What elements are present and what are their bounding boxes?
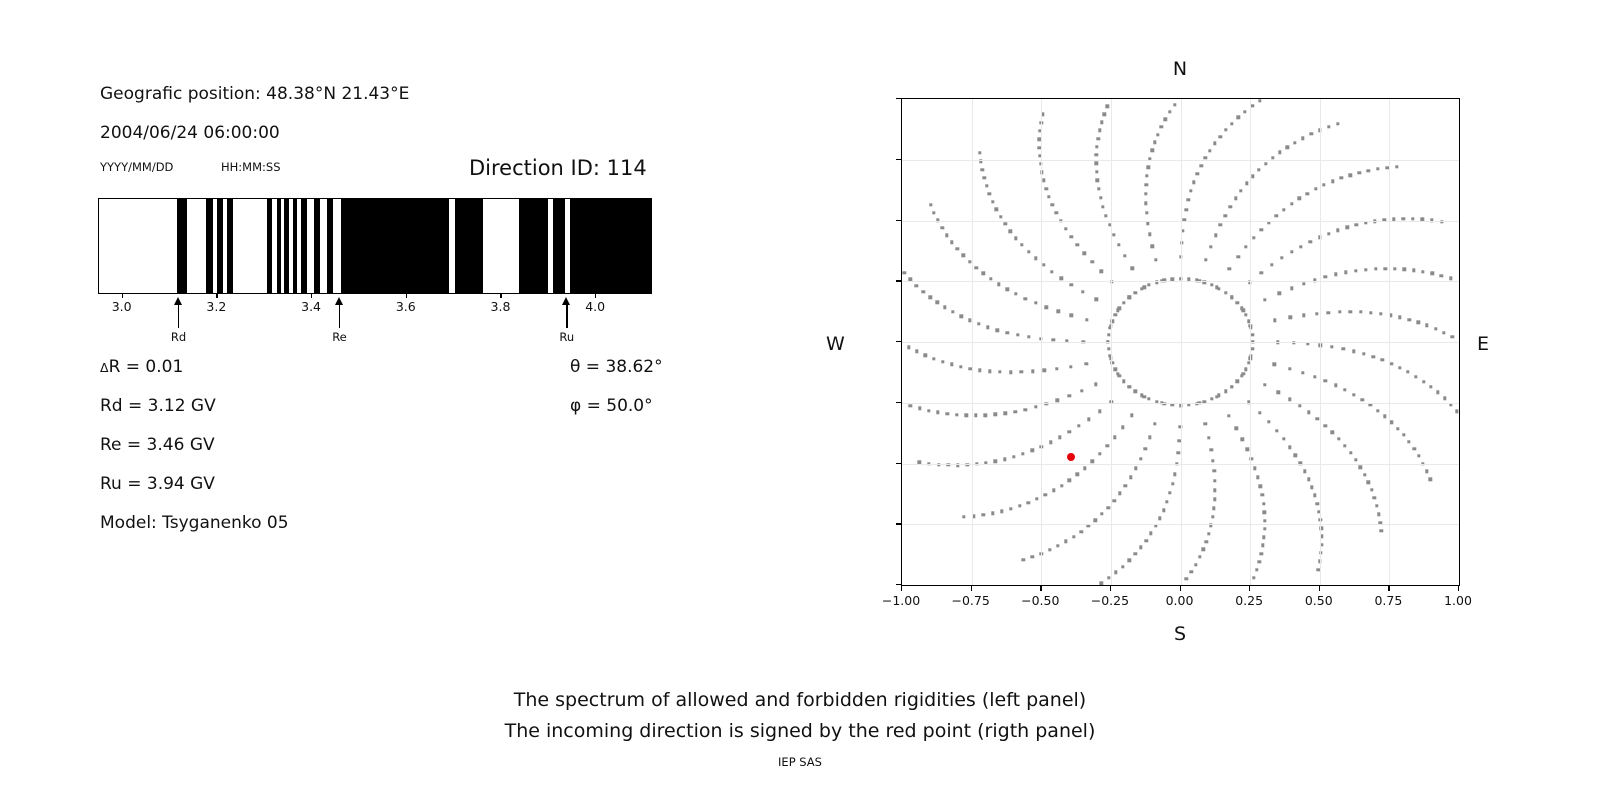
scatter-dot: [1044, 493, 1047, 496]
scatter-dot: [1327, 232, 1330, 235]
scatter-dot: [1362, 352, 1365, 355]
scatter-dot: [1145, 211, 1148, 214]
scatter-dot: [1117, 243, 1120, 246]
scatter-dot: [1425, 470, 1428, 473]
scatter-dot: [1431, 272, 1434, 275]
scatter-dot: [1106, 105, 1109, 108]
scatter-dot: [1369, 311, 1372, 314]
scatter-dot: [1337, 437, 1340, 440]
scatter-dot: [1436, 391, 1439, 394]
scatter-dot: [1224, 214, 1227, 217]
scatter-dot: [1451, 335, 1454, 338]
scatter-dot: [1027, 335, 1030, 338]
scatter-dot: [1094, 519, 1097, 522]
scatter-dot: [1154, 258, 1157, 261]
scatter-dot: [1056, 310, 1059, 313]
scatter-dot: [1189, 189, 1192, 192]
scatter-dot: [1315, 502, 1318, 505]
scatter-dot: [1245, 182, 1248, 185]
scatter-dot: [1251, 175, 1254, 178]
scatter-dot: [1374, 267, 1377, 270]
scatter-dot: [1020, 243, 1023, 246]
scatter-dot: [1130, 414, 1133, 417]
scatter-dot: [1230, 385, 1233, 388]
scatter-dot: [981, 513, 984, 516]
scatter-dot: [1128, 296, 1131, 299]
scatter-dot: [1343, 444, 1346, 447]
scatter-dot: [1144, 201, 1147, 204]
scatter-dot: [1245, 448, 1248, 451]
scatter-dot: [994, 460, 997, 463]
scatter-dot: [1100, 512, 1103, 515]
scatter-dot: [1107, 347, 1110, 350]
scatter-dot: [1095, 145, 1098, 148]
scatter-dot: [918, 407, 921, 410]
scatter-dot: [1244, 368, 1247, 371]
scatter-dot: [1107, 506, 1110, 509]
scatter-dot: [915, 284, 918, 287]
scatter-dot: [1261, 544, 1264, 547]
scatter-dot: [1058, 436, 1061, 439]
scatter-dot: [1290, 250, 1293, 253]
scatter-dot: [975, 266, 978, 269]
scatter-dot: [1434, 327, 1437, 330]
scatter-dot: [1145, 183, 1148, 186]
x-tick-label: 0.50: [1305, 593, 1333, 608]
scatter-dot: [921, 290, 924, 293]
scatter-dot: [1267, 420, 1270, 423]
scatter-dot: [1262, 536, 1265, 539]
scatter-dot: [1414, 375, 1417, 378]
scatter-dot: [1251, 333, 1254, 336]
scatter-dot: [1134, 552, 1137, 555]
scatter-dot: [1302, 313, 1305, 316]
scatter-dot: [977, 322, 980, 325]
scatter-dot: [1260, 271, 1263, 274]
scatter-dot: [1190, 570, 1193, 573]
scatter-dot: [1003, 457, 1006, 460]
caption-line-1: The spectrum of allowed and forbidden ri…: [0, 685, 1600, 716]
scatter-dot: [1051, 203, 1054, 206]
y-tick-mark: [896, 280, 901, 281]
scatter-dot: [1255, 568, 1258, 571]
scatter-dot: [1101, 205, 1104, 208]
scatter-dot: [1330, 345, 1333, 348]
scatter-dot: [1429, 385, 1432, 388]
footer-credit: IEP SAS: [0, 755, 1600, 769]
scatter-dot: [1048, 548, 1051, 551]
gridline-horizontal: [902, 221, 1459, 222]
scatter-dot: [1114, 571, 1117, 574]
scatter-dot: [1293, 141, 1296, 144]
scatter-dot: [1067, 394, 1070, 397]
scatter-dot: [1194, 563, 1197, 566]
y-tick-mark: [896, 341, 901, 342]
x-tick-mark: [971, 586, 972, 591]
scatter-dot: [1099, 196, 1102, 199]
scatter-dot: [1224, 291, 1227, 294]
scatter-dot: [1083, 466, 1086, 469]
scatter-dot: [1134, 291, 1137, 294]
scatter-dot: [994, 413, 997, 416]
scatter-dot: [1031, 449, 1034, 452]
scatter-dot: [1042, 263, 1045, 266]
scatter-dot: [1034, 257, 1037, 260]
scatter-dot: [1264, 162, 1267, 165]
scatter-dot: [1164, 118, 1167, 121]
scatter-dot: [1336, 228, 1339, 231]
scatter-dot: [1114, 313, 1117, 316]
scatter-dot: [959, 365, 962, 368]
x-tick-label: 1.00: [1444, 593, 1472, 608]
scatter-dot: [1263, 383, 1266, 386]
scatter-dot: [1080, 530, 1083, 533]
scatter-dot: [1207, 436, 1210, 439]
scatter-dot: [1364, 268, 1367, 271]
scatter-dot: [945, 233, 948, 236]
x-tick-mark: [1458, 586, 1459, 591]
scatter-dot: [1227, 414, 1230, 417]
scatter-dot: [1070, 314, 1073, 317]
scatter-dot: [1336, 122, 1339, 125]
scatter-dot: [1064, 540, 1067, 543]
scatter-dot: [1205, 540, 1208, 543]
scatter-dot: [1210, 397, 1213, 400]
gridline-horizontal: [902, 160, 1459, 161]
scatter-dot: [1307, 478, 1310, 481]
scatter-dot: [1403, 267, 1406, 270]
scatter-dot: [1004, 222, 1007, 225]
scatter-dot: [1204, 422, 1207, 425]
scatter-dot: [1316, 417, 1319, 420]
scatter-dot: [1313, 494, 1316, 497]
scatter-dot: [1302, 282, 1305, 285]
scatter-dot: [1027, 501, 1030, 504]
scatter-dot: [1251, 347, 1254, 350]
scatter-dot: [1047, 195, 1050, 198]
scatter-dot: [1257, 560, 1260, 563]
scatter-dot: [1213, 142, 1216, 145]
scatter-dot: [1144, 447, 1147, 450]
scatter-dot: [1000, 510, 1003, 513]
scatter-dot: [1398, 366, 1401, 369]
scatter-dot: [1349, 451, 1352, 454]
scatter-dot: [1094, 382, 1097, 385]
scatter-dot: [932, 211, 935, 214]
scatter-dot: [1310, 132, 1313, 135]
scatter-dot: [1083, 252, 1086, 255]
scatter-dot: [1260, 552, 1263, 555]
scatter-dot: [1359, 466, 1362, 469]
scatter-dot: [1095, 298, 1098, 301]
scatter-dot: [1098, 452, 1101, 455]
scatter-dot: [1021, 452, 1024, 455]
scatter-dot: [1240, 437, 1243, 440]
scatter-dot: [1331, 430, 1334, 433]
scatter-dot: [1367, 169, 1370, 172]
scatter-dot: [1379, 529, 1382, 532]
scatter-dot: [1103, 113, 1106, 116]
scatter-dot: [1252, 576, 1255, 579]
scatter-dot: [1242, 372, 1245, 375]
scatter-dot: [1016, 333, 1019, 336]
scatter-dot: [1253, 467, 1256, 470]
scatter-dot: [1069, 365, 1072, 368]
scatter-dot: [1200, 164, 1203, 167]
scatter-dot: [988, 192, 991, 195]
scatter-dot: [1210, 448, 1213, 451]
scatter-dot: [915, 350, 918, 353]
scatter-dot: [1121, 565, 1124, 568]
scatter-dot: [1213, 498, 1216, 501]
scatter-dot: [955, 413, 958, 416]
scatter-dot: [1151, 244, 1154, 247]
scatter-dot: [1260, 493, 1263, 496]
scatter-dot: [1214, 234, 1217, 237]
scatter-dot: [1064, 227, 1067, 230]
compass-label-east: E: [1477, 333, 1489, 355]
scatter-dot: [1112, 233, 1115, 236]
scatter-dot: [1440, 274, 1443, 277]
scatter-dot: [1228, 267, 1231, 270]
scatter-dot: [1090, 260, 1093, 263]
scatter-dot: [1156, 133, 1159, 136]
scatter-dot: [1239, 189, 1242, 192]
scatter-dot: [1147, 165, 1150, 168]
scatter-dot: [1185, 577, 1188, 580]
scatter-dot: [978, 151, 981, 154]
scatter-dot: [1009, 230, 1012, 233]
scatter-dot: [1098, 410, 1101, 413]
x-tick-mark: [901, 586, 902, 591]
scatter-dot: [1147, 283, 1150, 286]
scatter-dot: [995, 208, 998, 211]
scatter-dot: [1263, 298, 1266, 301]
scatter-dot: [1449, 277, 1452, 280]
x-tick-label: 0.25: [1235, 593, 1263, 608]
scatter-dot: [1234, 197, 1237, 200]
scatter-dot: [1230, 296, 1233, 299]
scatter-dot: [907, 345, 910, 348]
scatter-dot: [1352, 393, 1355, 396]
scatter-dot: [1242, 309, 1245, 312]
scatter-dot: [1298, 197, 1301, 200]
scatter-dot: [1398, 316, 1401, 319]
scatter-dot: [1370, 488, 1373, 491]
gridline-horizontal: [902, 464, 1459, 465]
scatter-dot: [1055, 211, 1058, 214]
compass-label-south: S: [1174, 623, 1186, 645]
scatter-dot: [1262, 502, 1265, 505]
scatter-dot: [1303, 470, 1306, 473]
scatter-dot: [1043, 369, 1046, 372]
scatter-dot: [1144, 192, 1147, 195]
scatter-dot: [1363, 473, 1366, 476]
scatter-dot: [928, 296, 931, 299]
scatter-dot: [936, 411, 939, 414]
scatter-dot: [1106, 444, 1109, 447]
scatter-dot: [1278, 151, 1281, 154]
scatter-dot: [1213, 469, 1216, 472]
scatter-dot: [1014, 292, 1017, 295]
scatter-dot: [1162, 508, 1165, 511]
y-tick-mark: [896, 463, 901, 464]
scatter-dot: [1425, 324, 1428, 327]
scatter-dot: [1114, 368, 1117, 371]
scatter-dot: [1258, 411, 1261, 414]
scatter-dot: [1406, 370, 1409, 373]
scatter-dot: [1338, 310, 1341, 313]
scatter-dot: [1113, 435, 1116, 438]
scatter-dot: [978, 368, 981, 371]
scatter-dot: [981, 168, 984, 171]
incoming-direction-point: [1067, 453, 1075, 461]
scatter-dot: [1327, 125, 1330, 128]
scatter-dot: [1148, 233, 1151, 236]
scatter-dot: [965, 414, 968, 417]
scatter-dot: [959, 315, 962, 318]
scatter-dot: [1003, 412, 1006, 415]
scatter-dot: [1422, 380, 1425, 383]
scatter-dot: [1276, 391, 1279, 394]
scatter-dot: [1237, 116, 1240, 119]
scatter-dot: [1204, 258, 1207, 261]
scatter-dot: [1213, 489, 1216, 492]
scatter-dot: [1379, 312, 1382, 315]
scatter-dot: [1081, 290, 1084, 293]
scatter-dot: [1160, 125, 1163, 128]
scatter-dot: [1009, 370, 1012, 373]
scatter-dot: [1260, 228, 1263, 231]
scatter-dot: [1116, 372, 1119, 375]
scatter-dot: [1421, 270, 1424, 273]
scatter-dot: [1455, 410, 1458, 413]
x-tick-mark: [1319, 586, 1320, 591]
scatter-dot: [1060, 276, 1063, 279]
scatter-dot: [902, 271, 905, 274]
y-tick-mark: [896, 523, 901, 524]
scatter-dot: [1381, 358, 1384, 361]
scatter-dot: [1123, 254, 1126, 257]
y-tick-mark: [896, 159, 901, 160]
scatter-dot: [1095, 153, 1098, 156]
scatter-dot: [1098, 129, 1101, 132]
scatter-dot: [929, 203, 932, 206]
scatter-dot: [1099, 581, 1102, 584]
scatter-dot: [1177, 451, 1180, 454]
scatter-dot: [1306, 192, 1309, 195]
scatter-dot: [1139, 546, 1142, 549]
scatter-dot: [1068, 479, 1071, 482]
scatter-dot: [1116, 309, 1119, 312]
scatter-dot: [1334, 273, 1337, 276]
scatter-dot: [985, 184, 988, 187]
scatter-dot: [974, 414, 977, 417]
scatter-dot: [1331, 180, 1334, 183]
scatter-dot: [936, 301, 939, 304]
scatter-dot: [1096, 137, 1099, 140]
scatter-dot: [1085, 318, 1088, 321]
scatter-dot: [1236, 255, 1239, 258]
gridline-horizontal: [902, 281, 1459, 282]
scatter-dot: [1235, 380, 1238, 383]
scatter-dot: [1099, 270, 1102, 273]
scatter-dot: [1121, 425, 1124, 428]
scatter-dot: [1273, 363, 1276, 366]
y-tick-mark: [896, 98, 901, 99]
scatter-dot: [1210, 283, 1213, 286]
scatter-dot: [1056, 398, 1059, 401]
scatter-dot: [1343, 388, 1346, 391]
scatter-dot: [1361, 398, 1364, 401]
scatter-dot: [1144, 539, 1147, 542]
scatter-dot: [1263, 510, 1266, 513]
scatter-dot: [1095, 170, 1098, 173]
scatter-dot: [1288, 367, 1291, 370]
scatter-dot: [1383, 267, 1386, 270]
scatter-dot: [1020, 370, 1023, 373]
scatter-dot: [1288, 398, 1291, 401]
scatter-dot: [1006, 331, 1009, 334]
scatter-dot: [1012, 455, 1015, 458]
scatter-dot: [1118, 492, 1121, 495]
caption-line-2: The incoming direction is signed by the …: [0, 716, 1600, 747]
x-tick-mark: [1180, 586, 1181, 591]
scatter-dot: [1340, 176, 1343, 179]
scatter-dot: [982, 176, 985, 179]
scatter-dot: [1143, 395, 1146, 398]
scatter-dot: [1215, 286, 1218, 289]
scatter-dot: [986, 325, 989, 328]
scatter-dot: [1218, 135, 1221, 138]
scatter-dot: [1376, 409, 1379, 412]
scatter-dot: [1027, 250, 1030, 253]
scatter-dot: [1364, 221, 1367, 224]
scatter-dot: [1442, 331, 1445, 334]
scatter-dot: [1417, 454, 1420, 457]
direction-map-panel: N S W E −1.00−0.75−0.50−0.250.000.250.50…: [0, 0, 1600, 660]
scatter-dot: [1024, 408, 1027, 411]
scatter-dot: [1077, 424, 1080, 427]
scatter-dot: [1198, 555, 1201, 558]
scatter-dot: [1097, 187, 1100, 190]
scatter-dot: [943, 306, 946, 309]
scatter-dot: [1324, 275, 1327, 278]
scatter-dot: [1153, 422, 1156, 425]
scatter-dot: [1096, 179, 1099, 182]
scatter-dot: [1275, 214, 1278, 217]
scatter-dot: [1352, 350, 1355, 353]
scatter-dot: [984, 413, 987, 416]
scatter-dot: [1213, 479, 1216, 482]
scatter-dot: [1345, 226, 1348, 229]
scatter-dot: [1367, 481, 1370, 484]
scatter-dot: [1147, 397, 1150, 400]
polar-scatter-plot: [901, 98, 1460, 586]
scatter-dot: [1149, 532, 1152, 535]
scatter-dot: [1244, 313, 1247, 316]
scatter-dot: [1128, 385, 1131, 388]
scatter-dot: [1107, 333, 1110, 336]
scatter-dot: [1313, 375, 1316, 378]
scatter-dot: [1034, 405, 1037, 408]
scatter-dot: [1013, 410, 1016, 413]
scatter-dot: [1130, 267, 1133, 270]
scatter-dot: [1252, 236, 1255, 239]
scatter-dot: [940, 226, 943, 229]
scatter-dot: [1153, 141, 1156, 144]
scatter-dot: [988, 370, 991, 373]
